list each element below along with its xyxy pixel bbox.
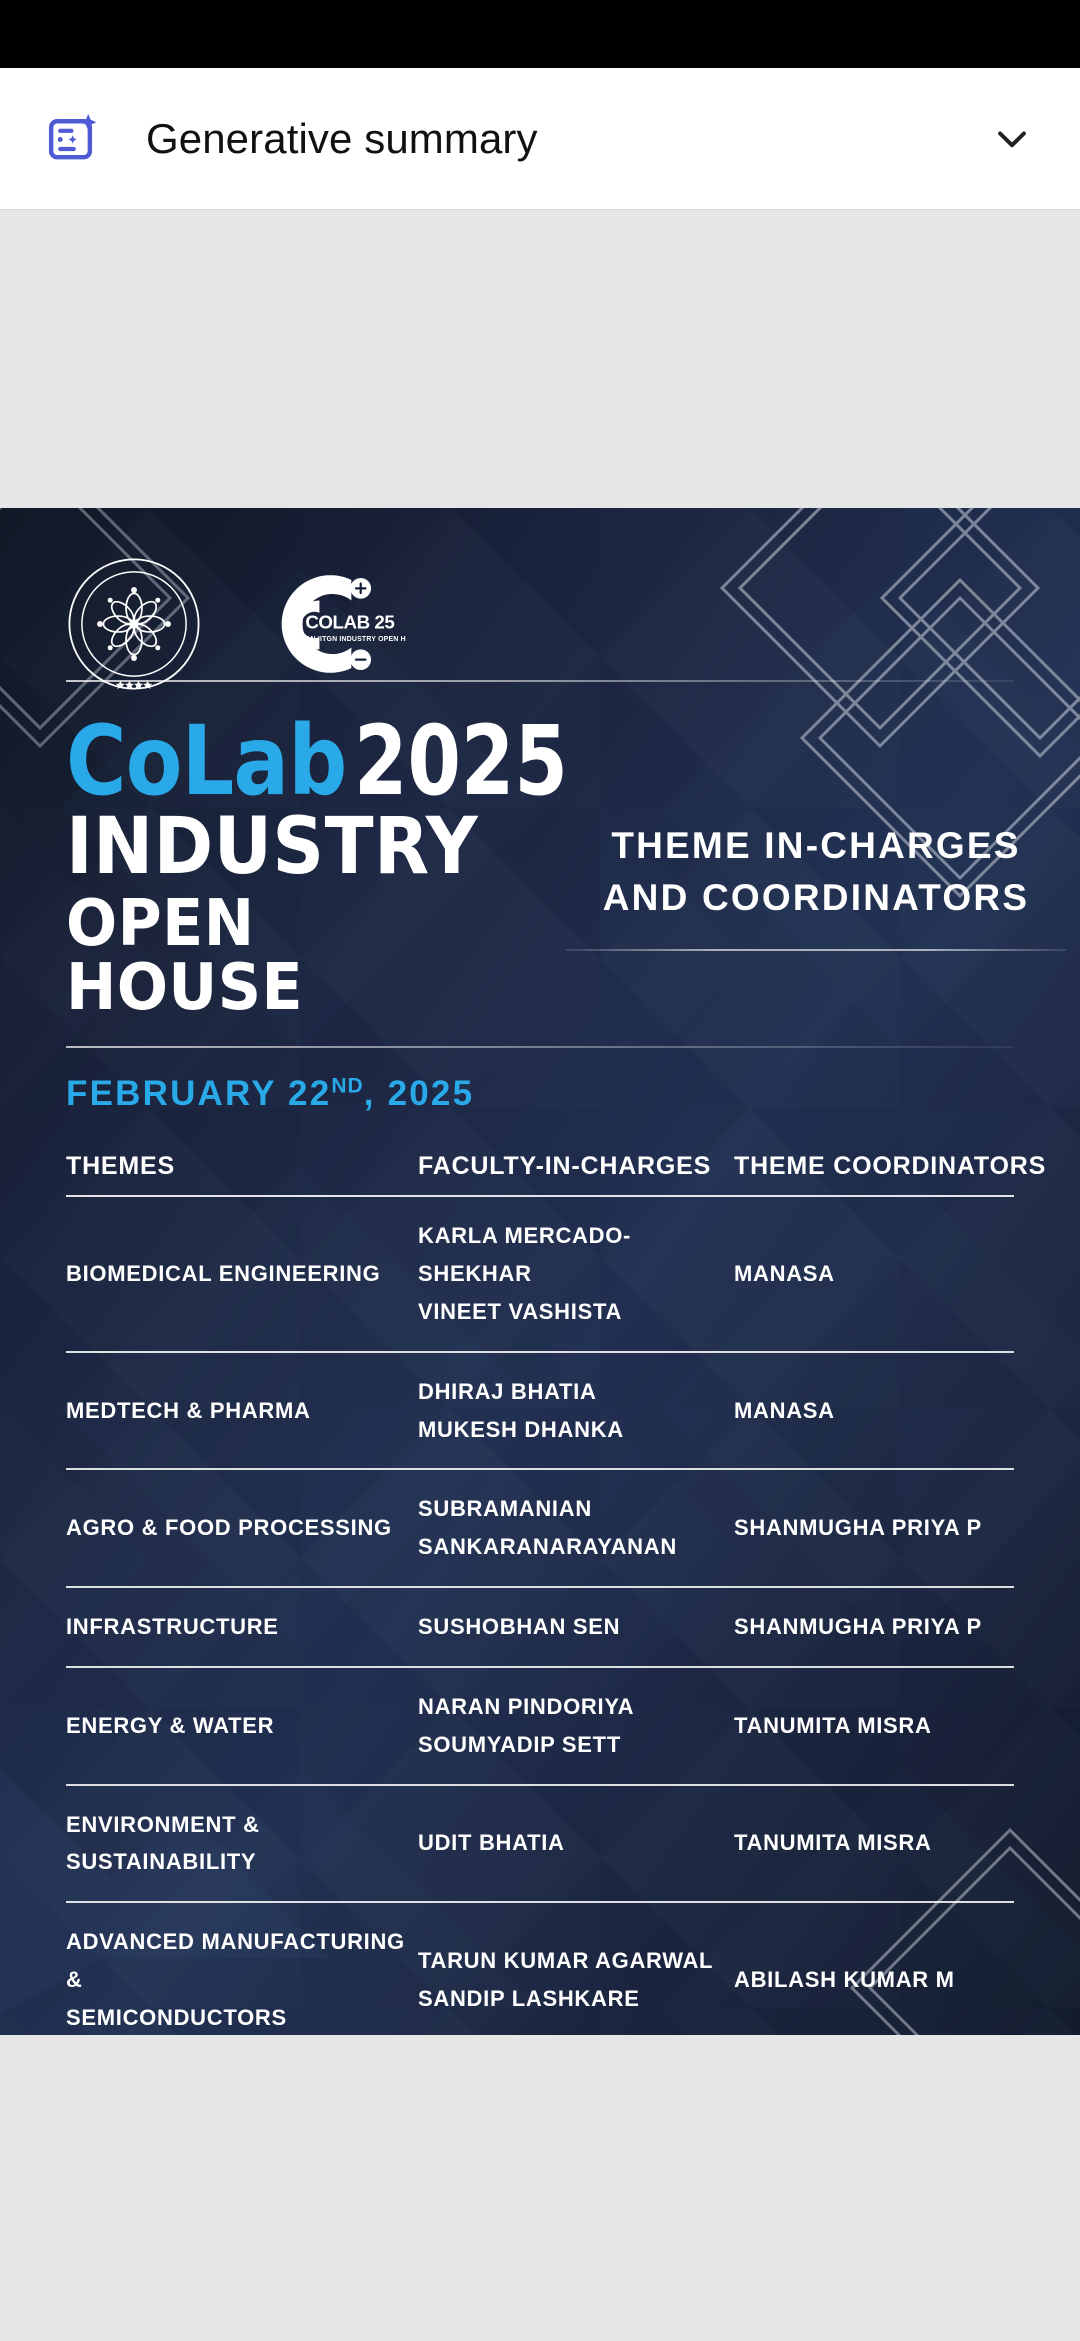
poster-divider-mid <box>66 1046 1014 1048</box>
cell-theme-line: MEDTECH & PHARMA <box>66 1392 418 1430</box>
cell-faculty-line: VINEET VASHISTA <box>418 1293 734 1331</box>
generative-summary-title: Generative summary <box>146 115 990 163</box>
cell-coordinator: SHANMUGHA PRIYA P <box>734 1587 1014 1667</box>
poster-logo-row: COLAB 25 AN IITGN INDUSTRY OPEN HOUSE <box>66 508 1014 648</box>
table-row: AGRO & FOOD PROCESSINGSUBRAMANIANSANKARA… <box>66 1469 1014 1587</box>
cell-theme-line: BIOMEDICAL ENGINEERING <box>66 1255 418 1293</box>
table-row: ENVIRONMENT & SUSTAINABILITYUDIT BHATIAT… <box>66 1785 1014 1903</box>
cell-theme-line: INFRASTRUCTURE <box>66 1608 418 1646</box>
poster-heading: THEME IN-CHARGES AND COORDINATORS <box>536 716 1066 1020</box>
poster-brand: CoLab 2025 INDUSTRY OPEN HOUSE <box>66 716 536 1020</box>
poster-heading-line2: AND COORDINATORS <box>603 872 1029 925</box>
table-row: INFRASTRUCTURESUSHOBHAN SENSHANMUGHA PRI… <box>66 1587 1014 1667</box>
cell-theme: INFRASTRUCTURE <box>66 1587 418 1667</box>
status-bar <box>0 0 1080 68</box>
poster-heading-line1: THEME IN-CHARGES <box>603 820 1029 873</box>
theme-coordinators-table: THEMES FACULTY-IN-CHARGES THEME COORDINA… <box>66 1152 1014 2035</box>
cell-theme: ENVIRONMENT & SUSTAINABILITY <box>66 1785 418 1903</box>
cell-faculty: SUSHOBHAN SEN <box>418 1587 734 1667</box>
cell-coordinator-line: ABILASH KUMAR M <box>734 1961 1014 1999</box>
content-spacer-top <box>0 210 1080 508</box>
cell-faculty-line: SANDIP LASHKARE <box>418 1980 734 2018</box>
table-header: THEMES FACULTY-IN-CHARGES THEME COORDINA… <box>66 1152 1014 1196</box>
cell-theme: AGRO & FOOD PROCESSING <box>66 1469 418 1587</box>
table-header-row: THEMES FACULTY-IN-CHARGES THEME COORDINA… <box>66 1152 1014 1196</box>
poster-date-year: , 2025 <box>364 1074 475 1113</box>
cell-theme-line: AGRO & FOOD PROCESSING <box>66 1509 418 1547</box>
cell-coordinator-line: TANUMITA MISRA <box>734 1707 1014 1745</box>
col-header-coordinators: THEME COORDINATORS <box>734 1152 1014 1196</box>
cell-coordinator: MANASA <box>734 1196 1014 1351</box>
chevron-down-icon[interactable] <box>990 117 1034 161</box>
brand-colab-text: CoLab <box>66 716 346 806</box>
poster-date-monthday: FEBRUARY 22 <box>66 1074 331 1113</box>
cell-faculty-line: TARUN KUMAR AGARWAL <box>418 1942 734 1980</box>
cell-faculty-line: SUBRAMANIAN <box>418 1490 734 1528</box>
cell-faculty: DHIRAJ BHATIAMUKESH DHANKA <box>418 1352 734 1470</box>
cell-coordinator-line: MANASA <box>734 1392 1014 1430</box>
cell-coordinator: MANASA <box>734 1352 1014 1470</box>
cell-faculty: UDIT BHATIA <box>418 1785 734 1903</box>
cell-faculty-line: MUKESH DHANKA <box>418 1411 734 1449</box>
col-header-themes: THEMES <box>66 1152 418 1196</box>
cell-faculty: KARLA MERCADO-SHEKHARVINEET VASHISTA <box>418 1196 734 1351</box>
table-row: BIOMEDICAL ENGINEERINGKARLA MERCADO-SHEK… <box>66 1196 1014 1351</box>
colab-poster: COLAB 25 AN IITGN INDUSTRY OPEN HOUSE Co… <box>0 508 1080 2035</box>
cell-coordinator-line: MANASA <box>734 1255 1014 1293</box>
cell-faculty-line: SANKARANARAYANAN <box>418 1528 734 1566</box>
cell-theme-line: ENERGY & WATER <box>66 1707 418 1745</box>
colab-25-logo-icon: COLAB 25 AN IITGN INDUSTRY OPEN HOUSE <box>246 563 406 685</box>
cell-faculty: NARAN PINDORIYASOUMYADIP SETT <box>418 1667 734 1785</box>
cell-theme-line: ADVANCED MANUFACTURING & <box>66 1923 418 1999</box>
cell-theme-line: SEMICONDUCTORS <box>66 1999 418 2035</box>
cell-coordinator-line: SHANMUGHA PRIYA P <box>734 1608 1014 1646</box>
table-row: ENERGY & WATERNARAN PINDORIYASOUMYADIP S… <box>66 1667 1014 1785</box>
cell-theme-line: ENVIRONMENT & SUSTAINABILITY <box>66 1806 418 1882</box>
cell-faculty-line: NARAN PINDORIYA <box>418 1688 734 1726</box>
iit-gandhinagar-seal-icon <box>66 556 202 692</box>
content-spacer-bottom <box>0 2035 1080 2341</box>
cell-faculty-line: KARLA MERCADO-SHEKHAR <box>418 1217 734 1293</box>
col-header-faculty: FACULTY-IN-CHARGES <box>418 1152 734 1196</box>
cell-coordinator-line: SHANMUGHA PRIYA P <box>734 1509 1014 1547</box>
cell-coordinator: ABILASH KUMAR M <box>734 1902 1014 2035</box>
cell-faculty-line: DHIRAJ BHATIA <box>418 1373 734 1411</box>
table-row: ADVANCED MANUFACTURING &SEMICONDUCTORSTA… <box>66 1902 1014 2035</box>
svg-text:AN IITGN INDUSTRY OPEN HOUSE: AN IITGN INDUSTRY OPEN HOUSE <box>305 636 406 643</box>
table-body: BIOMEDICAL ENGINEERINGKARLA MERCADO-SHEK… <box>66 1196 1014 2035</box>
generative-summary-icon <box>46 111 102 167</box>
svg-text:COLAB 25: COLAB 25 <box>305 612 394 633</box>
cell-coordinator: TANUMITA MISRA <box>734 1667 1014 1785</box>
poster-divider-top <box>66 680 1014 682</box>
cell-theme: ENERGY & WATER <box>66 1667 418 1785</box>
poster-title-block: CoLab 2025 INDUSTRY OPEN HOUSE THEME IN-… <box>66 716 1014 1020</box>
table-row: MEDTECH & PHARMADHIRAJ BHATIAMUKESH DHAN… <box>66 1352 1014 1470</box>
brand-industry-text: INDUSTRY <box>66 808 498 886</box>
cell-theme: MEDTECH & PHARMA <box>66 1352 418 1470</box>
page-body: COLAB 25 AN IITGN INDUSTRY OPEN HOUSE Co… <box>0 210 1080 2340</box>
brand-openhouse-text: OPEN HOUSE <box>66 892 508 1020</box>
poster-date: FEBRUARY 22ND, 2025 <box>66 1074 1014 1114</box>
cell-faculty: SUBRAMANIANSANKARANARAYANAN <box>418 1469 734 1587</box>
cell-faculty-line: SUSHOBHAN SEN <box>418 1608 734 1646</box>
poster-heading-underline <box>566 949 1066 951</box>
cell-faculty: TARUN KUMAR AGARWALSANDIP LASHKARE <box>418 1902 734 2035</box>
cell-theme: BIOMEDICAL ENGINEERING <box>66 1196 418 1351</box>
generative-summary-header[interactable]: Generative summary <box>0 68 1080 210</box>
cell-faculty-line: UDIT BHATIA <box>418 1824 734 1862</box>
cell-theme: ADVANCED MANUFACTURING &SEMICONDUCTORS <box>66 1902 418 2035</box>
cell-coordinator: TANUMITA MISRA <box>734 1785 1014 1903</box>
cell-faculty-line: SOUMYADIP SETT <box>418 1726 734 1764</box>
poster-date-ordinal: ND <box>331 1075 363 1098</box>
cell-coordinator-line: TANUMITA MISRA <box>734 1824 1014 1862</box>
cell-coordinator: SHANMUGHA PRIYA P <box>734 1469 1014 1587</box>
